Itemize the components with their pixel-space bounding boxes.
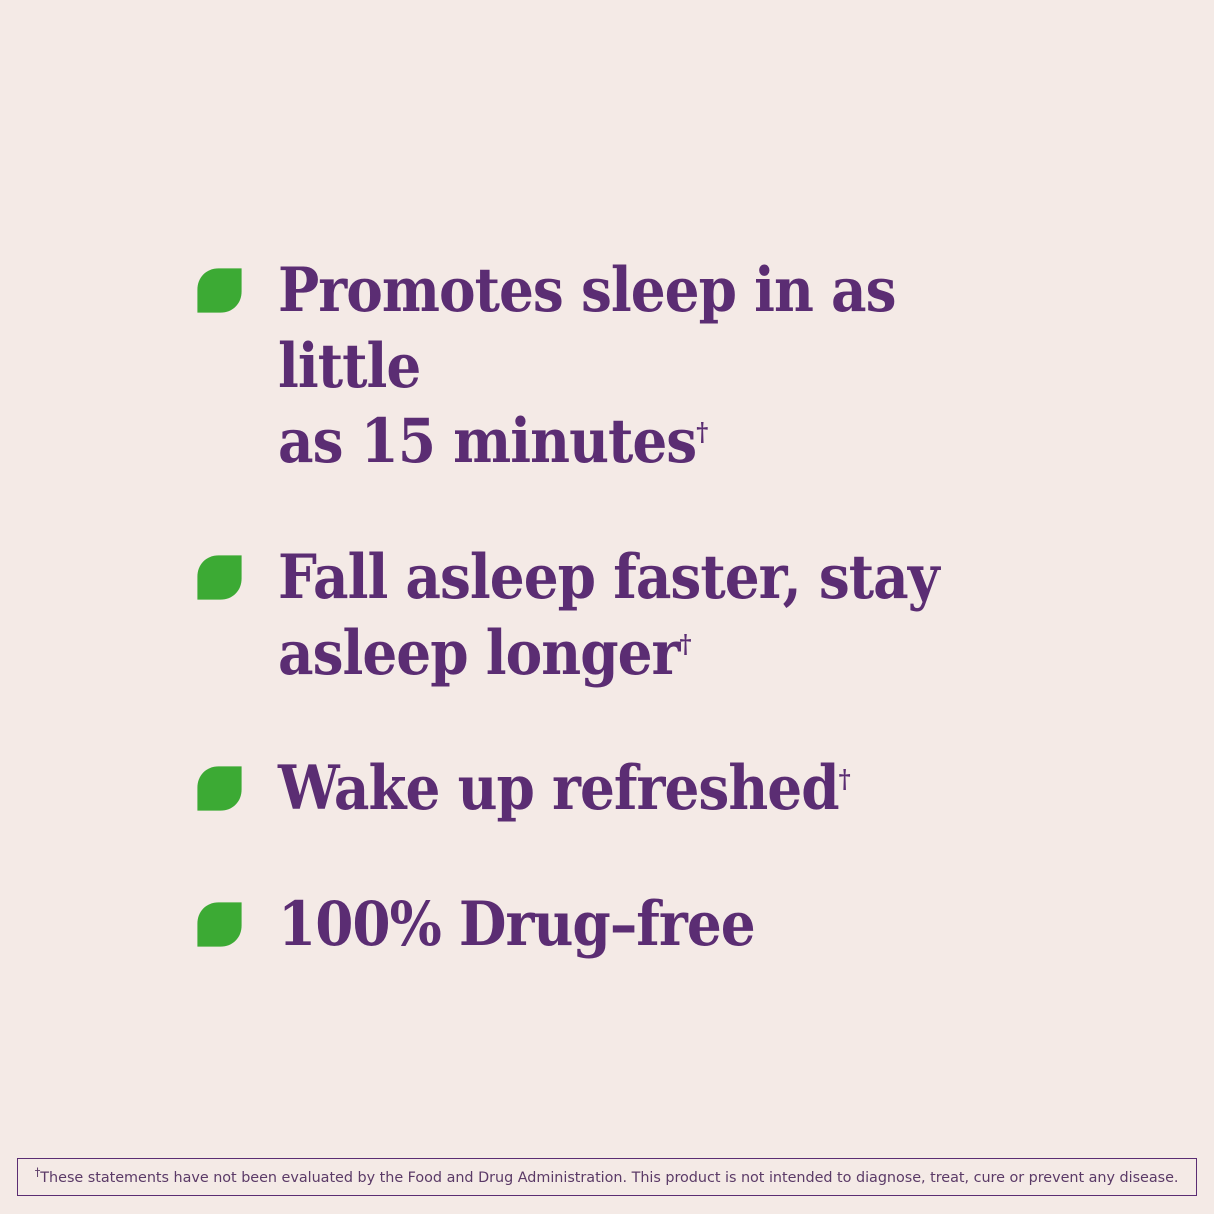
dagger-mark: † bbox=[839, 765, 851, 795]
benefit-text-3: Wake up refreshed† bbox=[278, 751, 851, 827]
benefits-list: Promotes sleep in as littleas 15 minutes… bbox=[196, 253, 1056, 962]
benefit-item-1: Promotes sleep in as littleas 15 minutes… bbox=[196, 253, 1056, 480]
benefits-panel: Promotes sleep in as littleas 15 minutes… bbox=[0, 0, 1214, 1214]
benefit-text-2: Fall asleep faster, stayasleep longer† bbox=[278, 540, 939, 691]
benefit-line-3a: Wake up refreshed bbox=[278, 753, 839, 824]
leaf-icon bbox=[196, 901, 243, 948]
benefit-text-1: Promotes sleep in as littleas 15 minutes… bbox=[278, 253, 962, 480]
benefit-text-4: 100% Drug–free bbox=[278, 887, 755, 963]
benefit-line-1b: as 15 minutes bbox=[278, 406, 696, 477]
disclaimer-box: †These statements have not been evaluate… bbox=[17, 1158, 1197, 1196]
disclaimer-body: These statements have not been evaluated… bbox=[41, 1169, 1179, 1186]
benefit-line-1a: Promotes sleep in as little bbox=[278, 255, 896, 402]
benefit-item-2: Fall asleep faster, stayasleep longer† bbox=[196, 540, 1056, 691]
dagger-mark: † bbox=[679, 629, 691, 659]
benefit-item-3: Wake up refreshed† bbox=[196, 751, 1056, 827]
benefit-line-2a: Fall asleep faster, stay bbox=[278, 542, 939, 613]
benefit-line-2b: asleep longer bbox=[278, 618, 679, 689]
leaf-icon bbox=[196, 765, 243, 812]
disclaimer-text: †These statements have not been evaluate… bbox=[35, 1169, 1179, 1186]
leaf-icon bbox=[196, 267, 243, 314]
dagger-mark: † bbox=[696, 418, 708, 448]
benefit-item-4: 100% Drug–free bbox=[196, 887, 1056, 963]
leaf-icon bbox=[196, 554, 243, 601]
benefit-line-4a: 100% Drug–free bbox=[278, 889, 755, 960]
